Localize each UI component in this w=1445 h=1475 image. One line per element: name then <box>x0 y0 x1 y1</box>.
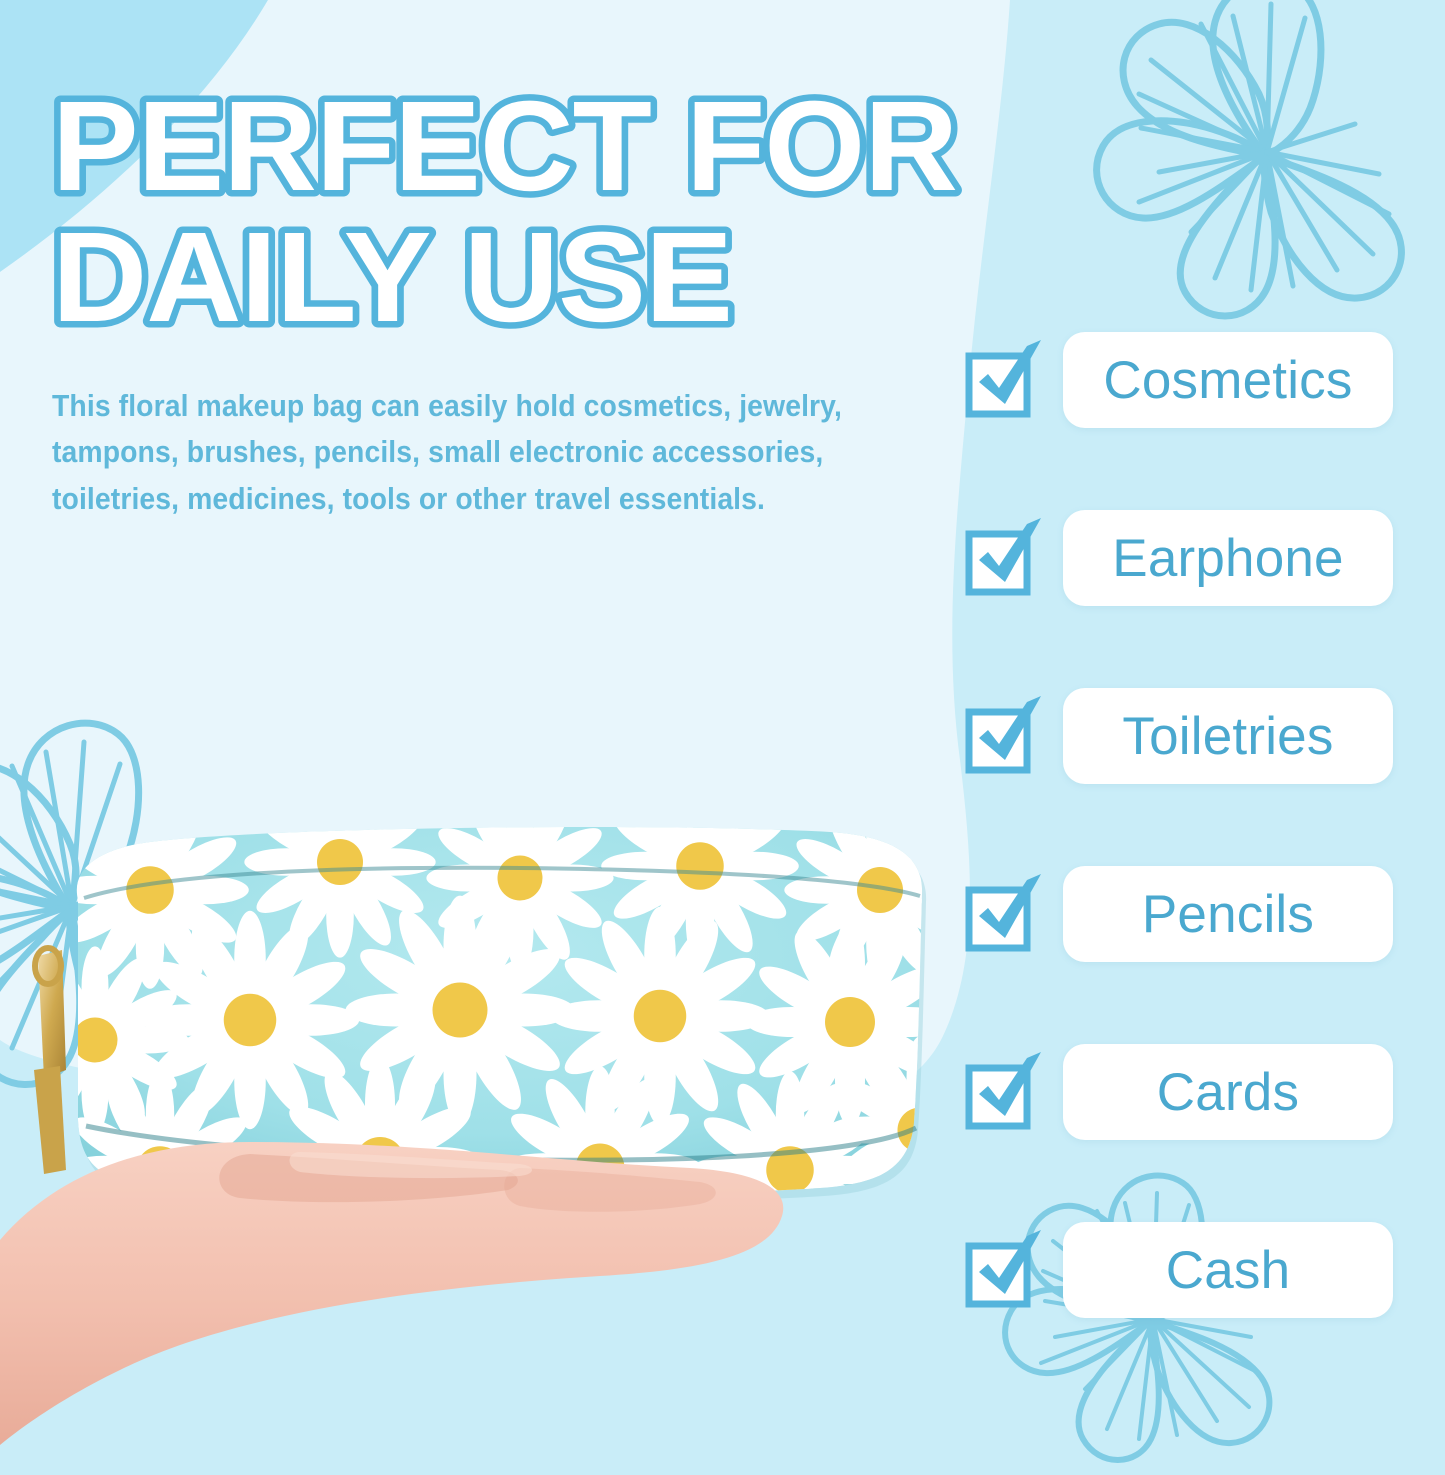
headline-line2: DAILY USE <box>52 206 732 349</box>
description-paragraph: This floral makeup bag can easily hold c… <box>52 383 894 522</box>
feature-label: Earphone <box>1112 532 1343 585</box>
feature-pill[interactable]: Cash <box>1063 1222 1393 1318</box>
feature-label: Cards <box>1157 1066 1299 1119</box>
feature-pill[interactable]: Earphone <box>1063 510 1393 606</box>
checkbox-checked-icon[interactable] <box>965 886 1031 952</box>
feature-pill[interactable]: Cards <box>1063 1044 1393 1140</box>
product-image-daisy-makeup-bag <box>0 770 1000 1445</box>
checklist-row[interactable]: Cash <box>965 1222 1415 1400</box>
feature-pill[interactable]: Pencils <box>1063 866 1393 962</box>
feature-label: Cash <box>1166 1244 1291 1297</box>
feature-label: Cosmetics <box>1103 354 1352 407</box>
checklist-row[interactable]: Cards <box>965 1044 1415 1222</box>
checkbox-checked-icon[interactable] <box>965 530 1031 596</box>
checklist-row[interactable]: Pencils <box>965 866 1415 1044</box>
checklist-row[interactable]: Earphone <box>965 510 1415 688</box>
checkbox-checked-icon[interactable] <box>965 1242 1031 1308</box>
checkbox-checked-icon[interactable] <box>965 708 1031 774</box>
feature-label: Toiletries <box>1122 710 1333 763</box>
feature-pill[interactable]: Cosmetics <box>1063 332 1393 428</box>
feature-pill[interactable]: Toiletries <box>1063 688 1393 784</box>
headline: PERFECT FOR PERFECT FOR DAILY USE DAILY … <box>52 78 982 338</box>
headline-line1: PERFECT FOR <box>52 75 957 218</box>
feature-label: Pencils <box>1142 888 1314 941</box>
feature-checklist: Cosmetics Earphone Toiletries <box>965 332 1415 1400</box>
bag-zipper <box>34 948 66 1174</box>
checkbox-checked-icon[interactable] <box>965 1064 1031 1130</box>
checkbox-checked-icon[interactable] <box>965 352 1031 418</box>
checklist-row[interactable]: Cosmetics <box>965 332 1415 510</box>
checklist-row[interactable]: Toiletries <box>965 688 1415 866</box>
